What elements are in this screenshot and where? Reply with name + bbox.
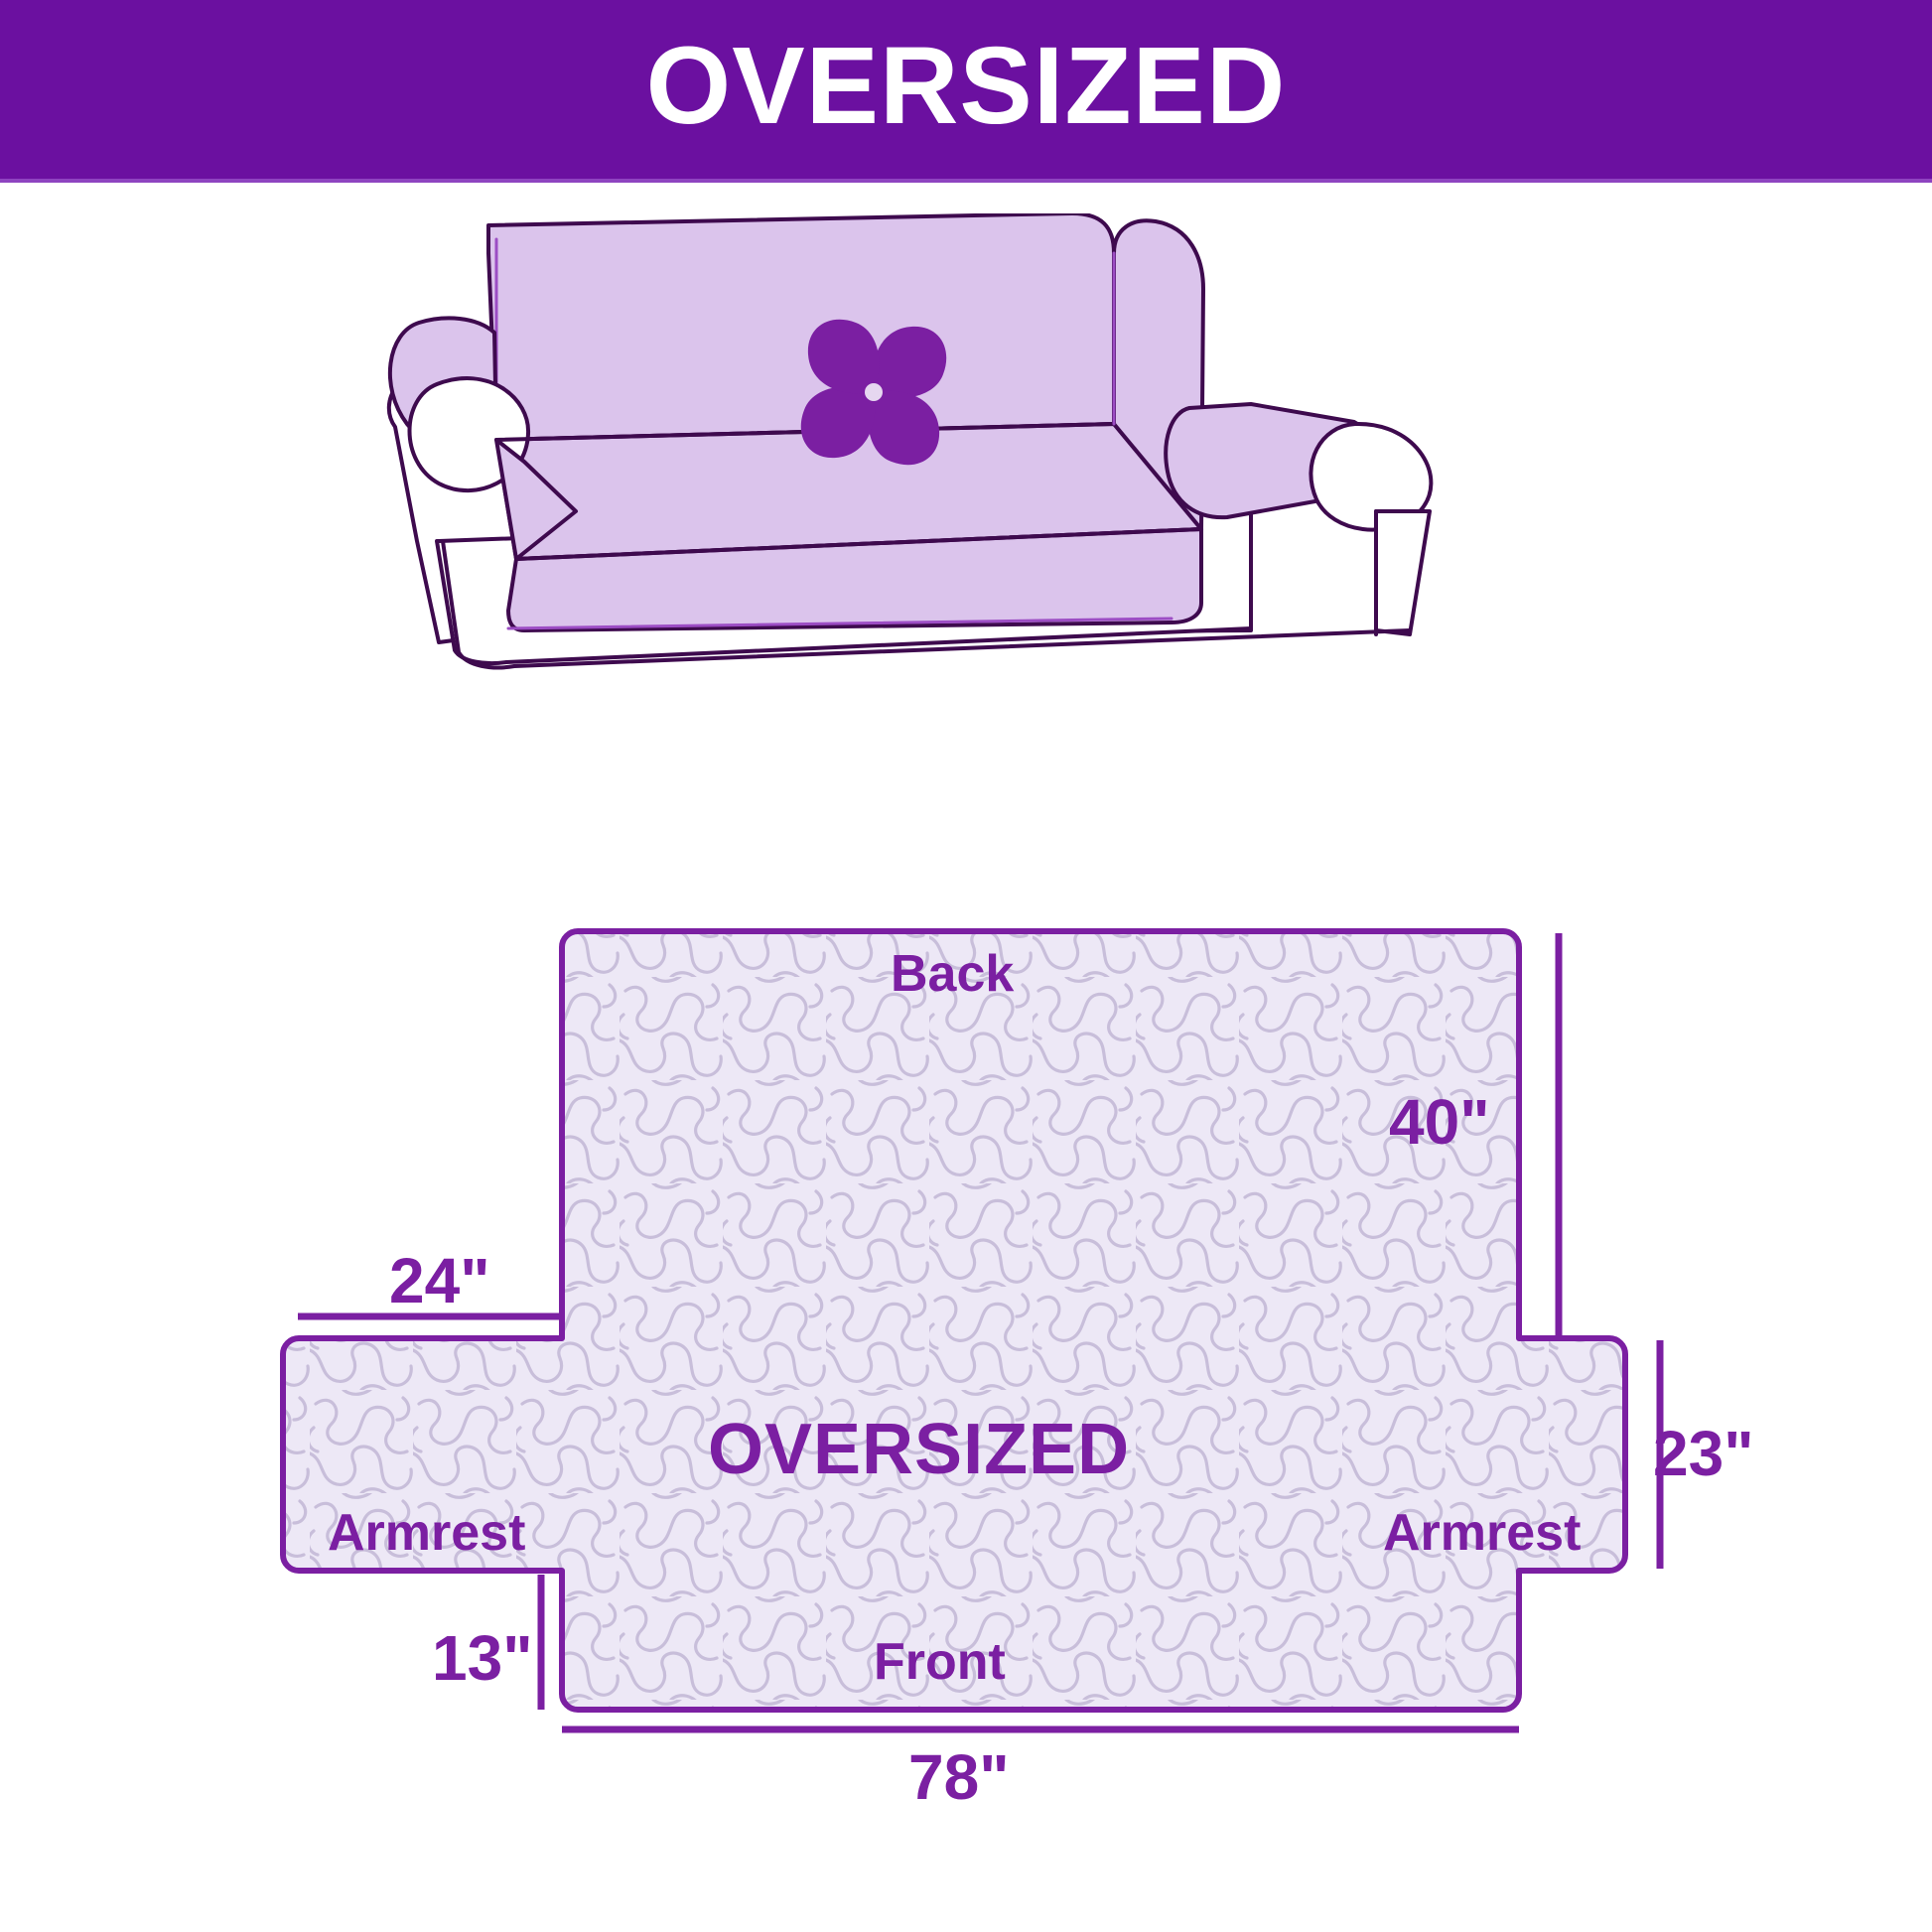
measurement-label-back-height: 40": [1389, 1090, 1490, 1154]
product-size-chart-page: OVERSIZED .frame { fill:#ffffff; stroke:…: [0, 0, 1932, 1932]
banner-title: OVERSIZED: [646, 32, 1287, 141]
measurement-label-front-offset: 13": [432, 1626, 533, 1690]
label-center-oversized: OVERSIZED: [708, 1414, 1130, 1485]
measurement-label-armrest-depth: 23": [1653, 1422, 1754, 1485]
label-armrest-right: Armrest: [1383, 1507, 1581, 1559]
label-back: Back: [891, 948, 1014, 1000]
label-armrest-left: Armrest: [328, 1507, 525, 1559]
measurement-label-total-width: 78": [908, 1745, 1010, 1809]
cover-outline: [283, 931, 1625, 1710]
measurement-label-back-offset: 24": [389, 1249, 490, 1312]
pinwheel-fan-logo: [801, 320, 946, 465]
label-front: Front: [874, 1636, 1006, 1688]
sofa-illustration: .frame { fill:#ffffff; stroke:#3E0A4E; s…: [377, 213, 1579, 680]
header-banner: OVERSIZED: [0, 0, 1932, 179]
banner-underline: [0, 179, 1932, 183]
